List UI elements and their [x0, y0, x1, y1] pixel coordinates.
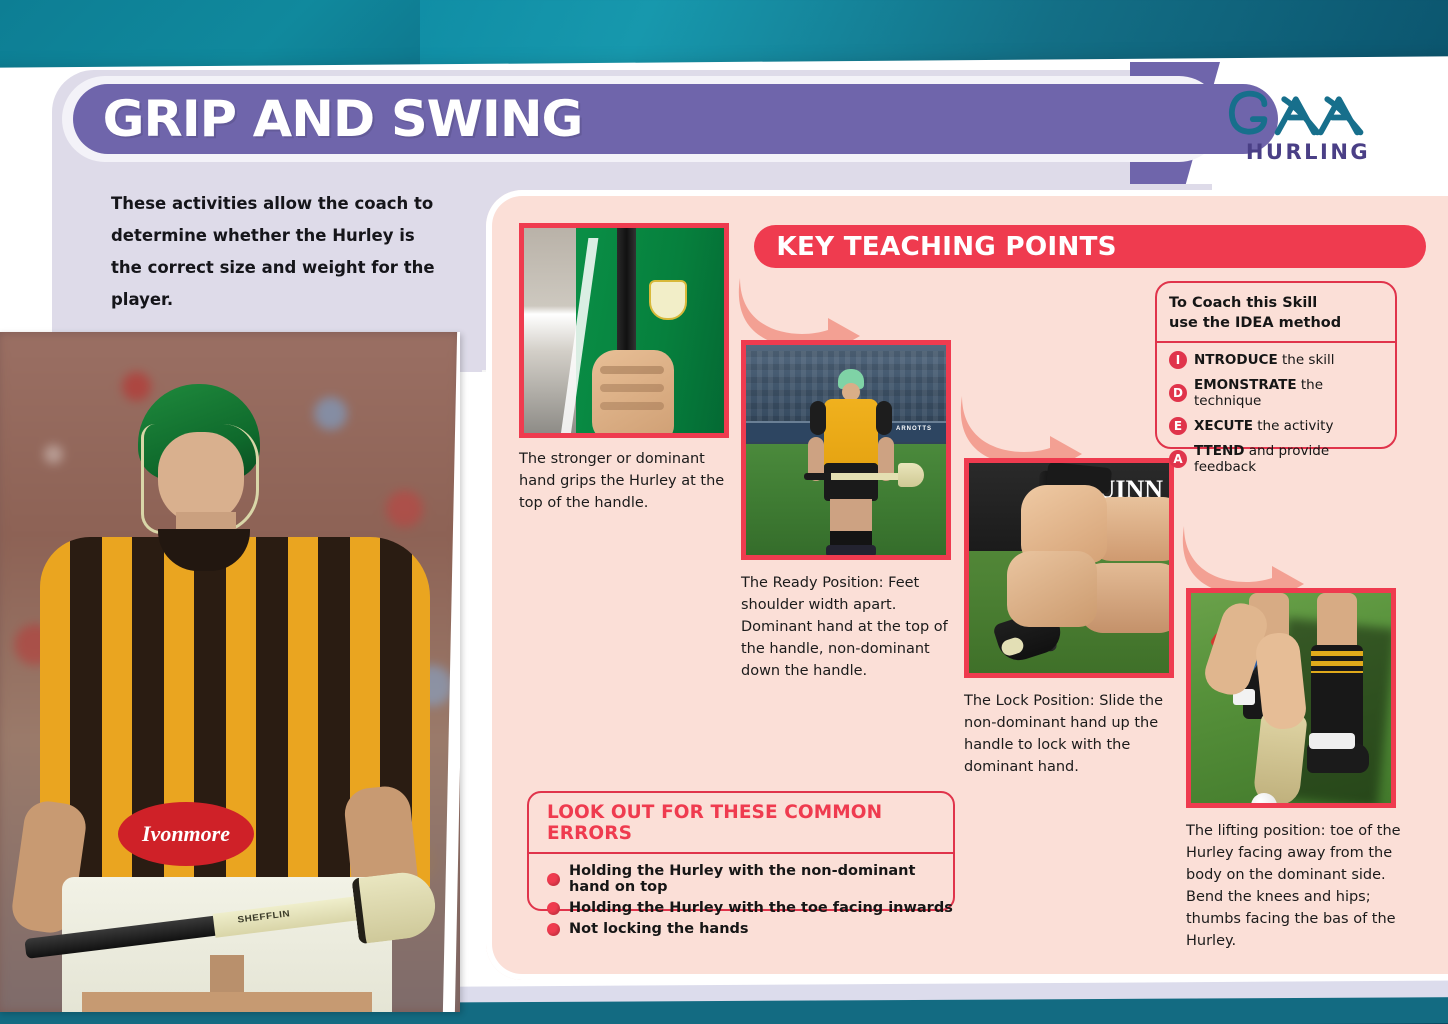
common-error-text: Not locking the hands — [569, 921, 749, 937]
idea-divider — [1157, 341, 1395, 343]
idea-letter-icon-d: D — [1169, 384, 1187, 402]
photo-grip — [519, 223, 729, 438]
common-error-item: Holding the Hurley with the non-dominant… — [547, 863, 953, 895]
page-title: GRIP AND SWING — [68, 90, 582, 148]
hero-jersey-sponsor: Ivonmore — [118, 802, 254, 866]
caption-grip: The stronger or dominant hand grips the … — [519, 448, 737, 514]
idea-row-demonstrate: D EMONSTRATE the technique — [1169, 377, 1383, 409]
page-title-banner: GRIP AND SWING — [73, 84, 1278, 154]
caption-lifting-position: The lifting position: toe of the Hurley … — [1186, 820, 1408, 952]
idea-box-title: To Coach this Skill use the IDEA method — [1169, 293, 1383, 341]
gaa-wordmark-icon — [1213, 86, 1404, 144]
key-teaching-points-panel: KEY TEACHING POINTS The stronger or domi… — [486, 190, 1448, 980]
hero-hurley-handle — [24, 915, 225, 959]
idea-letter-icon-i: I — [1169, 351, 1187, 369]
bullet-icon — [547, 902, 560, 915]
photo-lock-position — [964, 458, 1174, 678]
photo-ready-position — [741, 340, 951, 560]
caption-lock-position: The Lock Position: Slide the non-dominan… — [964, 690, 1182, 778]
idea-rest-execute: the activity — [1253, 418, 1334, 434]
photo-lifting-position — [1186, 588, 1396, 808]
caption-ready-position: The Ready Position: Feet shoulder width … — [741, 572, 963, 682]
idea-title-pre: use the — [1169, 315, 1235, 331]
idea-word-attend: TTEND — [1194, 443, 1244, 459]
gaa-logo: HURLING — [1208, 78, 1408, 172]
key-teaching-points-title: KEY TEACHING POINTS — [752, 232, 1117, 262]
idea-title-line1: To Coach this Skill — [1169, 293, 1383, 313]
bullet-icon — [547, 873, 560, 886]
common-errors-title: LOOK OUT FOR THESE COMMON ERRORS — [529, 793, 953, 852]
bullet-icon — [547, 923, 560, 936]
idea-rest-introduce: the skill — [1278, 352, 1335, 368]
intro-text: These activities allow the coach to dete… — [111, 188, 451, 316]
idea-word-introduce: NTRODUCE — [1194, 352, 1278, 368]
common-error-text: Holding the Hurley with the non-dominant… — [569, 863, 953, 895]
gaa-sport-label: HURLING — [1246, 140, 1370, 164]
common-error-item: Holding the Hurley with the toe facing i… — [547, 900, 953, 916]
hero-legs — [82, 992, 372, 1012]
idea-word-execute: XECUTE — [1194, 418, 1253, 434]
hero-photo: Ivonmore SHEFFLIN — [0, 332, 460, 1012]
common-error-item: Not locking the hands — [547, 921, 953, 937]
idea-row-attend: A TTEND and provide feedback — [1169, 443, 1383, 475]
idea-row-introduce: I NTRODUCE the skill — [1169, 351, 1383, 369]
idea-title-acronym: IDEA — [1235, 315, 1274, 331]
common-errors-list: Holding the Hurley with the non-dominant… — [529, 854, 953, 937]
idea-title-line2: use the IDEA method — [1169, 313, 1383, 333]
common-error-text: Holding the Hurley with the toe facing i… — [569, 900, 953, 916]
common-errors-box: LOOK OUT FOR THESE COMMON ERRORS Holding… — [527, 791, 955, 911]
idea-title-post: method — [1274, 315, 1342, 331]
idea-row-execute: E XECUTE the activity — [1169, 417, 1383, 435]
idea-letter-icon-a: A — [1169, 450, 1187, 468]
idea-word-demonstrate: EMONSTRATE — [1194, 377, 1297, 393]
key-teaching-points-header: KEY TEACHING POINTS — [754, 225, 1426, 268]
idea-method-box: To Coach this Skill use the IDEA method … — [1155, 281, 1397, 449]
idea-letter-icon-e: E — [1169, 417, 1187, 435]
